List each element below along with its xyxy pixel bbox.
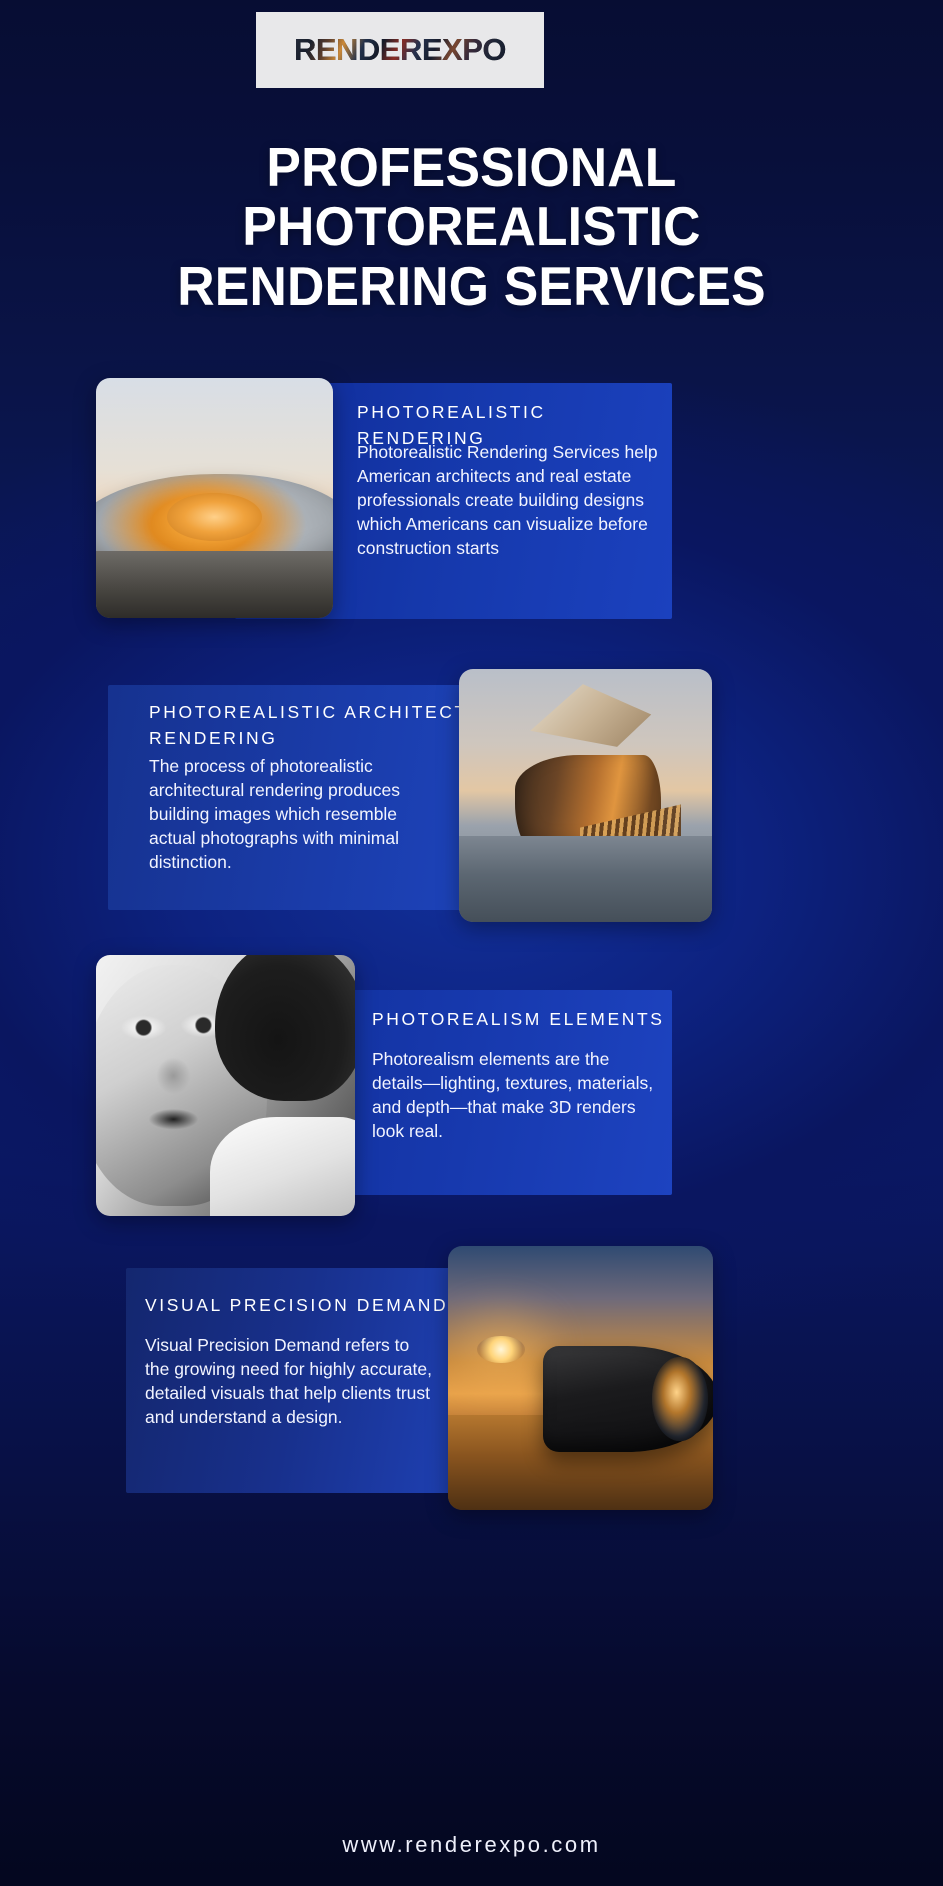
scene-timber-pavilion xyxy=(459,669,712,922)
logo-text: RENDEREXPO xyxy=(294,32,506,68)
card-heading: PHOTOREALISM ELEMENTS xyxy=(372,1006,672,1032)
card-image-portrait-drawing xyxy=(96,955,355,1216)
portrait-hair xyxy=(215,955,355,1101)
card-body: Photorealistic Rendering Services help A… xyxy=(357,441,659,561)
page-title-line-3: RENDERING SERVICES xyxy=(28,257,914,316)
page-title-line-1: PROFESSIONAL xyxy=(28,138,914,197)
villa-window-glow xyxy=(167,493,262,541)
card-image-timber-pavilion xyxy=(459,669,712,922)
page-title-line-2: PHOTOREALISTIC xyxy=(28,197,914,256)
footer-website-url[interactable]: www.renderexpo.com xyxy=(0,1832,943,1858)
card-image-curved-villa xyxy=(96,378,333,618)
camera-lens-glass xyxy=(652,1357,708,1441)
card-heading: PHOTOREALISTIC ARCHITECT RENDERING xyxy=(149,699,479,752)
portrait-shirt xyxy=(210,1117,355,1216)
card-image-camera-lens xyxy=(448,1246,713,1510)
pavilion-twisted-form xyxy=(515,755,662,856)
sunset-sun xyxy=(477,1336,525,1364)
card-heading: VISUAL PRECISION DEMAND xyxy=(145,1292,485,1318)
card-body: The process of photorealistic architectu… xyxy=(149,755,447,875)
card-body: Photorealism elements are the details—li… xyxy=(372,1048,662,1144)
page-title: PROFESSIONAL PHOTOREALISTIC RENDERING SE… xyxy=(28,138,914,316)
scene-portrait-drawing xyxy=(96,955,355,1216)
scene-curved-villa xyxy=(96,378,333,618)
scene-camera-lens xyxy=(448,1246,713,1510)
card-body: Visual Precision Demand refers to the gr… xyxy=(145,1334,435,1430)
logo-box: RENDEREXPO xyxy=(256,12,544,88)
